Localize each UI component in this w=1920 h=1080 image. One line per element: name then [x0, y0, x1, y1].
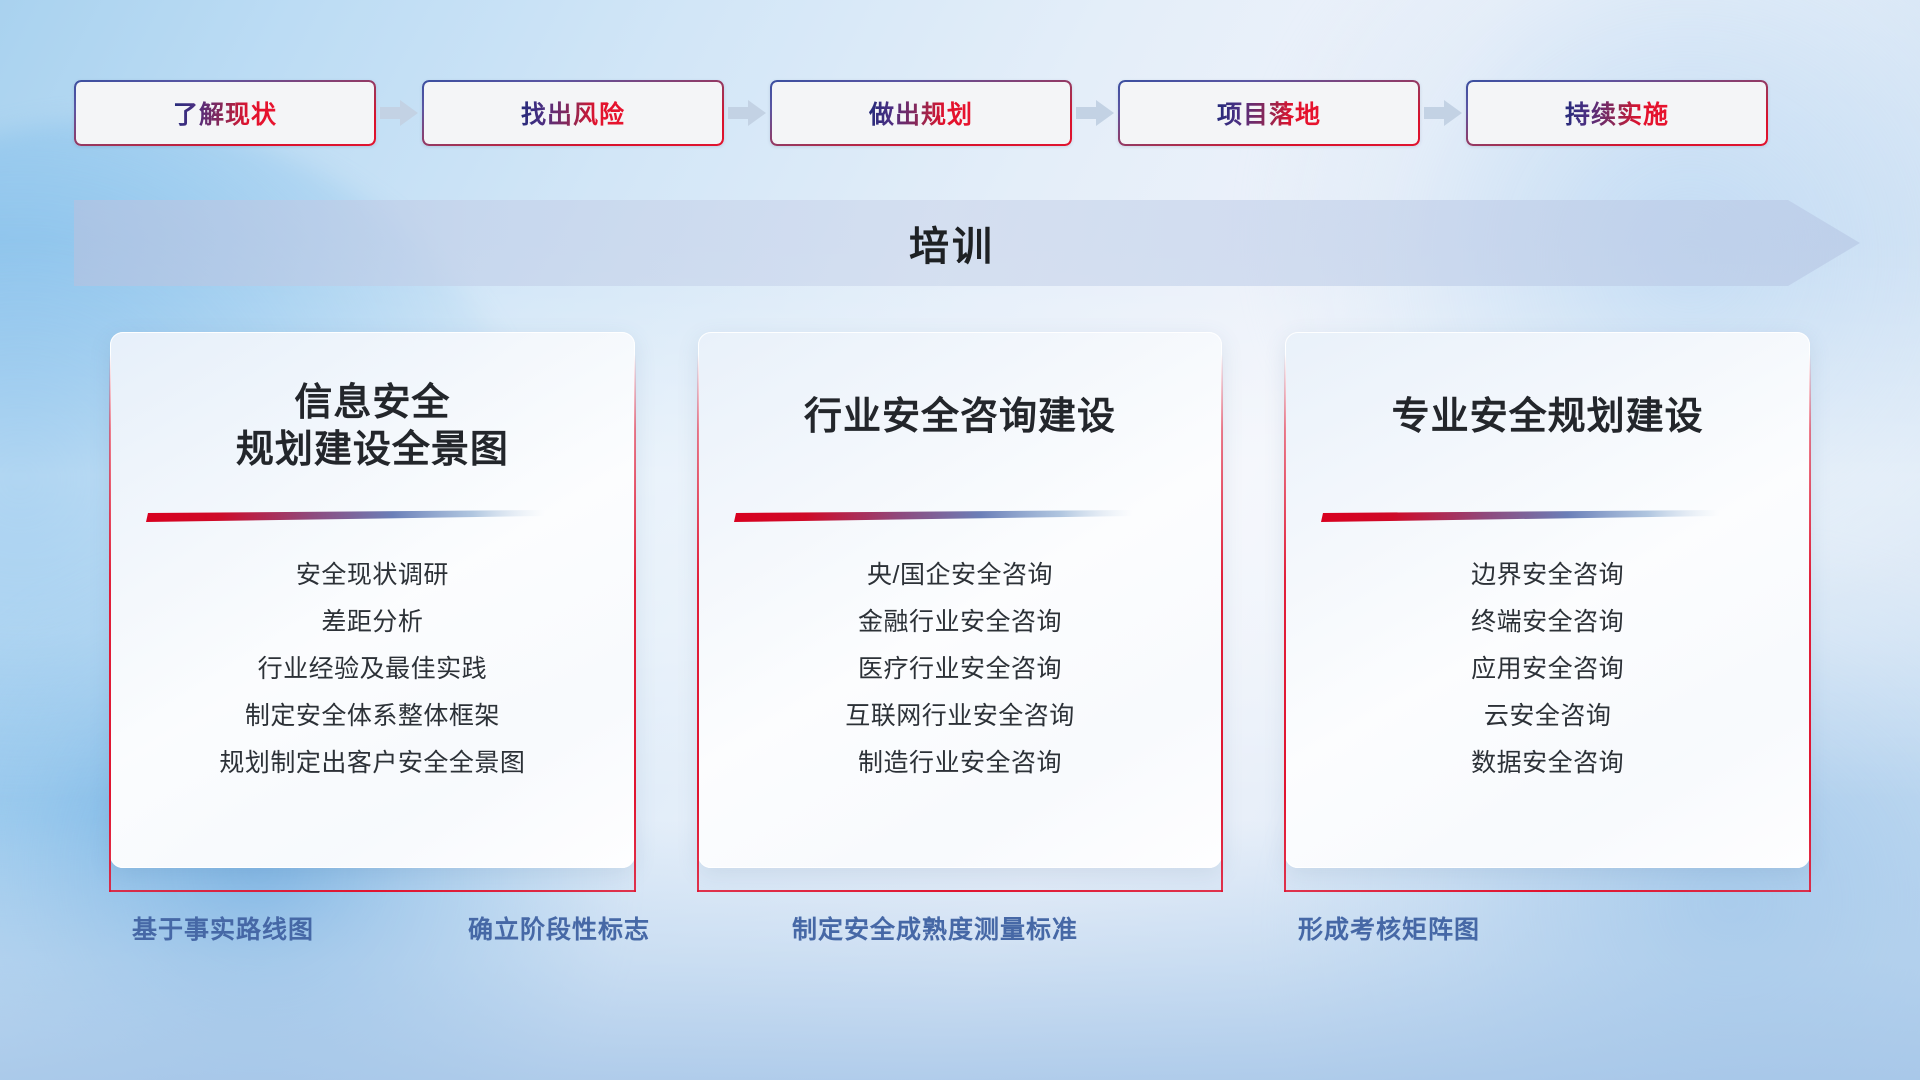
process-step-flow: 了解现状找出风险做出规划项目落地持续实施 — [74, 80, 1846, 146]
card-title: 专业安全规划建设 — [1285, 394, 1810, 441]
card-divider-rule — [144, 510, 544, 523]
card-title: 信息安全 规划建设全景图 — [110, 380, 635, 474]
service-card-row: 信息安全 规划建设全景图安全现状调研差距分析行业经验及最佳实践制定安全体系整体框… — [110, 332, 1810, 868]
arrow-right-icon — [1420, 80, 1466, 146]
card-accent-edge-bottom — [109, 890, 636, 892]
card-list-item: 差距分析 — [110, 599, 635, 646]
step-box-1[interactable]: 了解现状 — [74, 80, 376, 146]
step-label: 做出规划 — [869, 95, 973, 131]
card-list-item: 规划制定出客户安全全景图 — [110, 740, 635, 787]
arrow-right-icon — [724, 80, 770, 146]
card-list-item: 应用安全咨询 — [1285, 646, 1810, 693]
card-item-list: 安全现状调研差距分析行业经验及最佳实践制定安全体系整体框架规划制定出客户安全全景… — [110, 552, 635, 787]
training-banner: 培训 — [74, 200, 1860, 286]
step-label: 持续实施 — [1565, 95, 1669, 131]
card-list-item: 制定安全体系整体框架 — [110, 693, 635, 740]
card-list-item: 安全现状调研 — [110, 552, 635, 599]
card-item-list: 央/国企安全咨询金融行业安全咨询医疗行业安全咨询互联网行业安全咨询制造行业安全咨… — [698, 552, 1223, 787]
card-item-list: 边界安全咨询终端安全咨询应用安全咨询云安全咨询数据安全咨询 — [1285, 552, 1810, 787]
outcome-label-3: 制定安全成熟度测量标准 — [792, 910, 1078, 946]
service-card-3[interactable]: 专业安全规划建设边界安全咨询终端安全咨询应用安全咨询云安全咨询数据安全咨询 — [1285, 332, 1810, 868]
outcome-label-2: 确立阶段性标志 — [468, 910, 650, 946]
arrow-right-icon — [1072, 80, 1118, 146]
step-box-5[interactable]: 持续实施 — [1466, 80, 1768, 146]
outcome-label-4: 形成考核矩阵图 — [1298, 910, 1480, 946]
step-box-2[interactable]: 找出风险 — [422, 80, 724, 146]
card-divider-rule — [732, 510, 1132, 523]
step-box-4[interactable]: 项目落地 — [1118, 80, 1420, 146]
step-label: 找出风险 — [521, 95, 625, 131]
step-box-3[interactable]: 做出规划 — [770, 80, 1072, 146]
training-banner-title: 培训 — [74, 200, 1860, 286]
card-divider-rule — [1319, 510, 1719, 523]
arrow-right-icon — [376, 80, 422, 146]
card-list-item: 行业经验及最佳实践 — [110, 646, 635, 693]
card-list-item: 金融行业安全咨询 — [698, 599, 1223, 646]
card-accent-edge-bottom — [697, 890, 1224, 892]
card-list-item: 云安全咨询 — [1285, 693, 1810, 740]
step-label: 了解现状 — [173, 95, 277, 131]
service-card-1[interactable]: 信息安全 规划建设全景图安全现状调研差距分析行业经验及最佳实践制定安全体系整体框… — [110, 332, 635, 868]
card-list-item: 终端安全咨询 — [1285, 599, 1810, 646]
card-accent-edge-bottom — [1284, 890, 1811, 892]
card-list-item: 制造行业安全咨询 — [698, 740, 1223, 787]
card-title: 行业安全咨询建设 — [698, 394, 1223, 441]
step-label: 项目落地 — [1217, 95, 1321, 131]
card-list-item: 数据安全咨询 — [1285, 740, 1810, 787]
card-list-item: 互联网行业安全咨询 — [698, 693, 1223, 740]
card-list-item: 医疗行业安全咨询 — [698, 646, 1223, 693]
outcome-label-row: 基于事实路线图确立阶段性标志制定安全成熟度测量标准形成考核矩阵图 — [0, 910, 1920, 966]
card-list-item: 央/国企安全咨询 — [698, 552, 1223, 599]
service-card-2[interactable]: 行业安全咨询建设央/国企安全咨询金融行业安全咨询医疗行业安全咨询互联网行业安全咨… — [698, 332, 1223, 868]
card-list-item: 边界安全咨询 — [1285, 552, 1810, 599]
outcome-label-1: 基于事实路线图 — [132, 910, 314, 946]
